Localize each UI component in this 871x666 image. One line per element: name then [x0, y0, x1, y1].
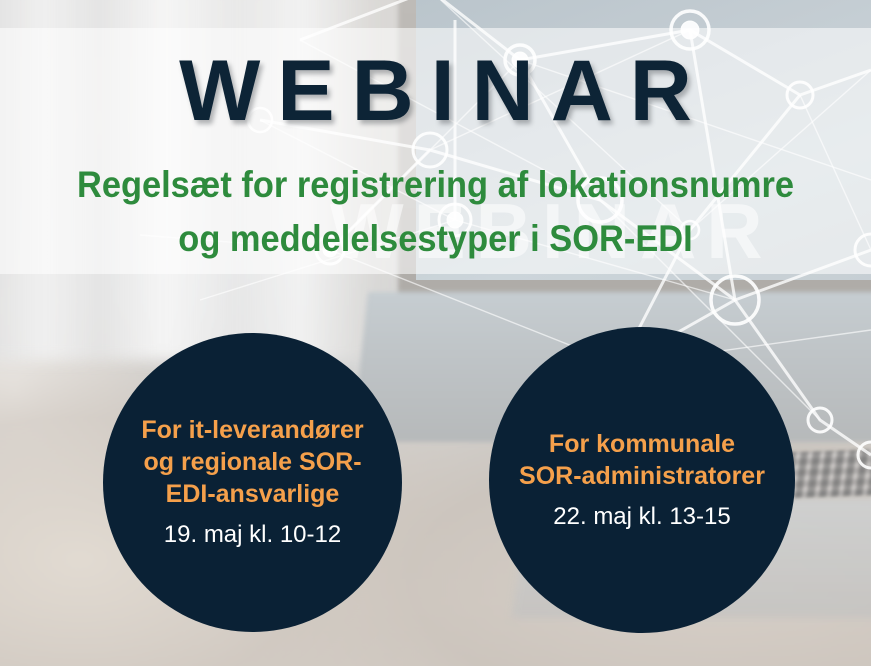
poster-content: WEBINAR Regelsæt for registrering af lok… — [0, 0, 871, 666]
webinar-poster: WEBINAR — [0, 0, 871, 666]
session-circle-it-suppliers: For it-leverandører og regionale SOR-EDI… — [103, 333, 402, 632]
subtitle-line-1: Regelsæt for registrering af lokationsnu… — [30, 158, 840, 212]
session-circle-municipal-admins: For kommunale SOR-administratorer 22. ma… — [489, 327, 795, 633]
session-date-label: 19. maj kl. 10-12 — [164, 519, 341, 550]
page-title: WEBINAR — [0, 48, 871, 134]
subtitle-line-2: og meddelelsestyper i SOR-EDI — [30, 212, 840, 266]
session-audience-label: For kommunale SOR-administratorer — [515, 428, 769, 492]
session-audience-label: For it-leverandører og regionale SOR-EDI… — [127, 414, 378, 510]
page-subtitle: Regelsæt for registrering af lokationsnu… — [30, 158, 840, 265]
session-date-label: 22. maj kl. 13-15 — [553, 501, 730, 532]
